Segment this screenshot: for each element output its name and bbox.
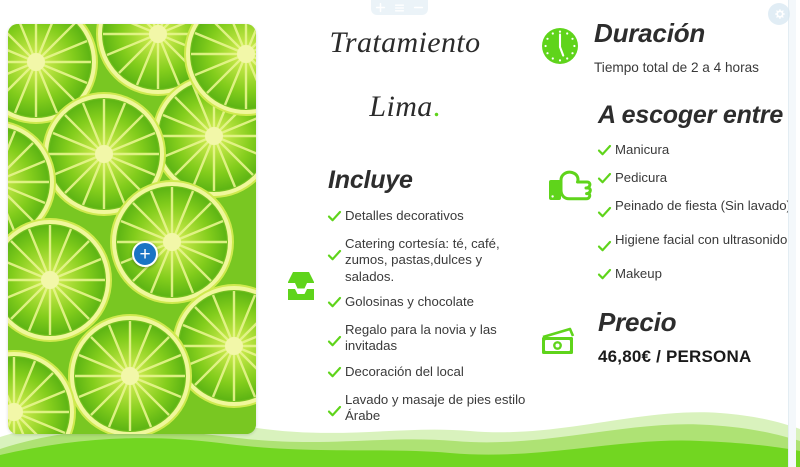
check-icon xyxy=(328,334,345,352)
choose-heading: A escoger entre xyxy=(598,101,792,130)
slide-canvas: + Tratamiento Lima. Incluye D xyxy=(0,0,800,467)
list-item: Manicura xyxy=(540,142,792,161)
settings-gear-button[interactable] xyxy=(768,3,790,25)
zoom-in-icon[interactable] xyxy=(374,2,387,13)
title-line-2: Lima. xyxy=(276,92,534,122)
page-title: Tratamiento Lima. xyxy=(276,18,534,122)
title-line-1: Tratamiento xyxy=(276,28,534,58)
price-value: 46,80€ / PERSONA xyxy=(598,347,751,367)
price-section: Precio 46,80€ / PERSONA xyxy=(540,307,792,367)
zoom-toolbar[interactable] xyxy=(371,0,428,15)
duration-section: Duración Tiempo total de 2 a 4 horas xyxy=(540,18,792,75)
list-item-label: Higiene facial con ultrasonido xyxy=(615,232,787,248)
check-icon xyxy=(598,239,615,257)
middle-column: Tratamiento Lima. Incluye Detalles decor… xyxy=(276,18,534,428)
list-item-label: Peinado de fiesta (Sin lavado) xyxy=(615,198,791,214)
includes-list: Detalles decorativos Catering cortesía: … xyxy=(276,208,534,425)
money-icon xyxy=(540,307,598,362)
right-column: Duración Tiempo total de 2 a 4 horas A e… xyxy=(540,18,792,428)
photo-hotspot-add-icon[interactable]: + xyxy=(132,241,158,267)
check-icon xyxy=(598,143,615,161)
list-item: Higiene facial con ultrasonido xyxy=(540,232,792,257)
zoom-out-icon[interactable] xyxy=(412,2,425,13)
choose-list: Manicura Pedicura Peinado de fiesta (Sin… xyxy=(540,142,792,285)
list-item: Regalo para la novia y las invitadas xyxy=(276,322,534,355)
list-item-label: Regalo para la novia y las invitadas xyxy=(345,322,534,355)
treatment-photo[interactable]: + xyxy=(8,24,256,434)
check-icon xyxy=(328,209,345,227)
list-item-label: Pedicura xyxy=(615,170,667,186)
inbox-icon xyxy=(281,270,321,311)
check-icon xyxy=(328,295,345,313)
menu-icon[interactable] xyxy=(393,2,406,13)
check-icon xyxy=(328,365,345,383)
title-line-2-text: Lima xyxy=(369,90,432,123)
clock-icon xyxy=(540,18,594,71)
check-icon xyxy=(598,171,615,189)
check-icon xyxy=(328,248,345,266)
list-item-label: Decoración del local xyxy=(345,364,464,380)
list-item-label: Manicura xyxy=(615,142,669,158)
duration-heading: Duración xyxy=(594,18,792,49)
thumbs-up-icon xyxy=(547,166,591,213)
includes-heading: Incluye xyxy=(328,166,534,195)
list-item: Makeup xyxy=(540,266,792,285)
check-icon xyxy=(598,205,615,223)
list-item-label: Detalles decorativos xyxy=(345,208,464,224)
vertical-scrollbar[interactable] xyxy=(788,0,796,467)
list-item-label: Golosinas y chocolate xyxy=(345,294,474,310)
duration-subtitle: Tiempo total de 2 a 4 horas xyxy=(594,60,792,75)
list-item: Lavado y masaje de pies estilo Árabe xyxy=(276,392,534,425)
check-icon xyxy=(328,404,345,422)
list-item: Detalles decorativos xyxy=(276,208,534,227)
gear-icon xyxy=(773,8,786,21)
list-item-label: Lavado y masaje de pies estilo Árabe xyxy=(345,392,534,425)
price-heading: Precio xyxy=(598,307,751,338)
check-icon xyxy=(598,267,615,285)
list-item-label: Catering cortesía: té, café, zumos, past… xyxy=(345,236,534,285)
list-item: Decoración del local xyxy=(276,364,534,383)
title-accent-dot: . xyxy=(433,90,441,123)
list-item-label: Makeup xyxy=(615,266,662,282)
